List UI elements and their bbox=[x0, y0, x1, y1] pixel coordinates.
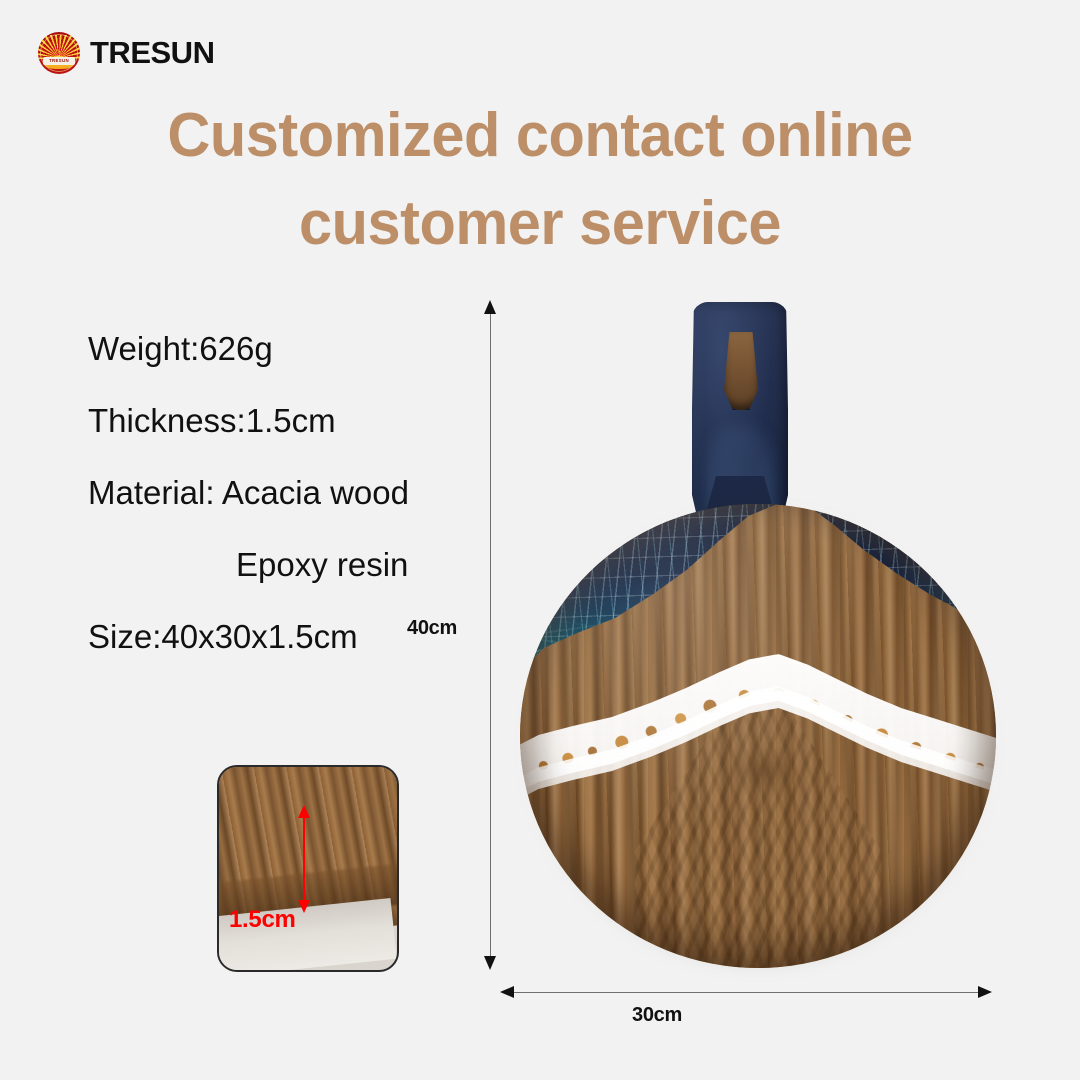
page-title-line-1: Customized contact online bbox=[22, 92, 1059, 180]
handle-hanging-hole bbox=[724, 332, 758, 410]
spec-item-material: Material: Acacia wood bbox=[88, 456, 488, 528]
logo-banner-text: TRESUN bbox=[43, 57, 75, 65]
thickness-arrow-head-top bbox=[298, 805, 310, 818]
page-title-line-2: customer service bbox=[22, 180, 1059, 268]
board-edge-shading bbox=[520, 504, 996, 968]
spec-item-material-secondary: Epoxy resin bbox=[88, 528, 488, 600]
height-dimension-label: 40cm bbox=[407, 617, 457, 640]
width-arrow-head-right bbox=[978, 986, 992, 998]
spec-item-thickness: Thickness:1.5cm bbox=[88, 384, 488, 456]
page-title: Customized contact online customer servi… bbox=[22, 92, 1059, 268]
thickness-value-label: 1.5cm bbox=[229, 906, 296, 934]
width-dimension-arrow-icon bbox=[500, 985, 992, 999]
height-dimension-arrow-icon bbox=[483, 300, 497, 970]
thickness-arrow-head-bottom bbox=[298, 900, 310, 913]
height-arrow-line bbox=[490, 310, 492, 960]
width-dimension-label-wrap: 30cm bbox=[0, 1004, 1080, 1027]
height-arrow-head-bottom bbox=[484, 956, 496, 970]
thickness-detail-photo: 1.5cm bbox=[217, 765, 399, 972]
brand-logo-lockup: TRESUN TRESUN bbox=[38, 32, 214, 74]
tresun-sunburst-logo-icon: TRESUN bbox=[38, 32, 80, 74]
board-round-surface bbox=[520, 504, 996, 968]
product-image bbox=[520, 296, 998, 968]
width-arrow-head-left bbox=[500, 986, 514, 998]
height-arrow-head-top bbox=[484, 300, 496, 314]
width-arrow-line bbox=[510, 992, 982, 994]
spec-item-weight: Weight:626g bbox=[88, 312, 488, 384]
width-dimension-label: 30cm bbox=[632, 1004, 682, 1026]
thickness-arrow-line bbox=[303, 814, 305, 904]
brand-name: TRESUN bbox=[90, 35, 214, 71]
logo-inner-ring bbox=[40, 34, 78, 72]
thickness-measure-arrow-icon bbox=[297, 805, 311, 913]
